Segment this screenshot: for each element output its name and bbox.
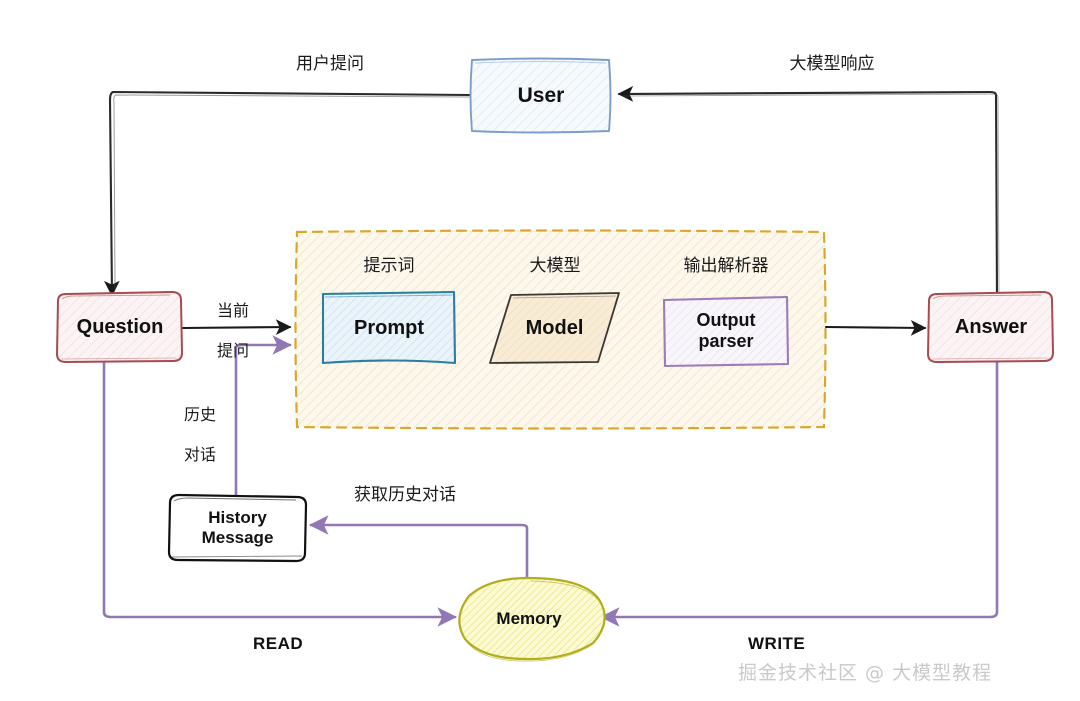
history-dialog-line2: 对话 xyxy=(166,445,234,465)
node-history-message[interactable] xyxy=(169,495,306,561)
node-output-parser[interactable] xyxy=(664,297,788,366)
diagram-graphics xyxy=(0,0,1080,701)
current-question-line1: 当前 xyxy=(190,301,276,321)
node-model[interactable] xyxy=(490,293,619,363)
current-question-line2: 提问 xyxy=(190,341,276,361)
node-prompt[interactable] xyxy=(323,292,455,363)
edge-label-write: WRITE xyxy=(748,634,805,654)
node-answer[interactable] xyxy=(928,292,1053,362)
node-question[interactable] xyxy=(57,292,182,362)
sub-label-model: 大模型 xyxy=(490,256,620,277)
edge-label-current-question: 当前 提问 xyxy=(190,281,276,381)
edge-label-user-question: 用户提问 xyxy=(212,54,448,75)
edge-chain-to-answer xyxy=(826,327,925,328)
history-dialog-line1: 历史 xyxy=(166,405,234,425)
edge-label-read: READ xyxy=(253,634,303,654)
edge-label-model-response: 大模型响应 xyxy=(710,54,954,75)
node-user[interactable] xyxy=(471,59,611,133)
sub-label-output-parser: 输出解析器 xyxy=(659,256,793,277)
sub-label-prompt: 提示词 xyxy=(323,256,455,277)
diagram-canvas: User Question Answer Prompt Model Output… xyxy=(0,0,1080,701)
edge-memory-to-history xyxy=(311,525,527,580)
node-memory[interactable] xyxy=(459,578,605,661)
edge-label-get-history: 获取历史对话 xyxy=(330,485,480,506)
edge-label-history-dialog: 历史 对话 xyxy=(166,385,234,485)
watermark: 掘金技术社区 @ 大模型教程 xyxy=(738,658,992,685)
